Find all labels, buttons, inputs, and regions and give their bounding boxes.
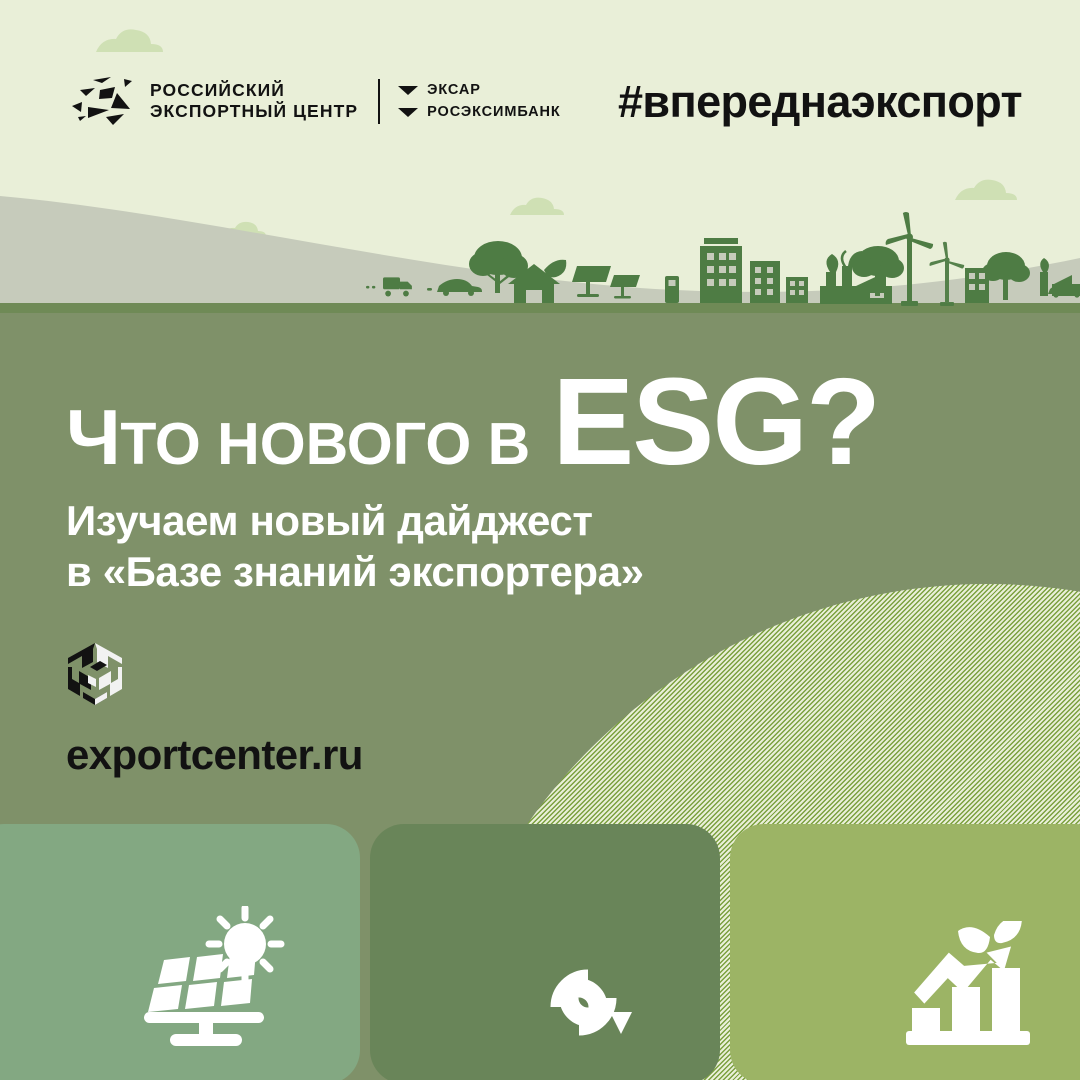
subsidiary-exiar[interactable]: ЭКСАР (398, 82, 560, 98)
page-subtitle: Изучаем новый дайджест в «Базе знаний эк… (66, 495, 644, 597)
page-title: Ч ТО НОВОГО В ESG? (66, 361, 879, 484)
eco-city-illustration (0, 0, 1080, 313)
rec-shards-logo (72, 76, 134, 126)
brand-name: РОССИЙСКИЙ ЭКСПОРТНЫЙ ЦЕНТР (150, 80, 358, 122)
solar-panel-sun-icon (134, 906, 286, 1046)
subsidiary-label: ЭКСАР (427, 82, 481, 98)
headline-initial: Ч (66, 398, 120, 476)
triangle-down-icon (398, 86, 418, 95)
brand-name-line-1: РОССИЙСКИЙ (150, 80, 358, 101)
brand-name-line-2: ЭКСПОРТНЫЙ ЦЕНТР (150, 101, 358, 122)
brand-logo-lockup[interactable]: РОССИЙСКИЙ ЭКСПОРТНЫЙ ЦЕНТР ЭКСАР РОСЭКС… (72, 76, 561, 126)
subsidiary-label: РОСЭКСИМБАНК (427, 104, 560, 120)
circular-economy-card[interactable] (370, 824, 720, 1080)
feature-cards-row (0, 824, 1080, 1080)
headline-esg: ESG? (552, 361, 879, 484)
solar-panel-card[interactable] (0, 824, 360, 1080)
website-url[interactable]: exportcenter.ru (66, 731, 363, 779)
subsidiary-roseximbank[interactable]: РОСЭКСИМБАНК (398, 104, 560, 120)
headline-smallcaps: ТО НОВОГО В (120, 415, 530, 474)
subtitle-line-1: Изучаем новый дайджест (66, 495, 644, 546)
green-growth-card[interactable] (730, 824, 1080, 1080)
headline-block: Ч ТО НОВОГО В ESG? (66, 361, 879, 484)
header-band: РОССИЙСКИЙ ЭКСПОРТНЫЙ ЦЕНТР ЭКСАР РОСЭКС… (0, 0, 1080, 313)
infinity-recycle-icon (516, 968, 646, 1046)
subtitle-line-2: в «Базе знаний экспортера» (66, 546, 644, 597)
promo-poster: РОССИЙСКИЙ ЭКСПОРТНЫЙ ЦЕНТР ЭКСАР РОСЭКС… (0, 0, 1080, 1080)
growth-chart-leaf-icon (906, 921, 1036, 1046)
triangle-down-icon (398, 108, 418, 117)
subsidiaries-list: ЭКСАР РОСЭКСИМБАНК (398, 82, 560, 120)
cube-knowledge-base-icon (66, 643, 124, 707)
campaign-hashtag[interactable]: #впереднаэкспорт (618, 76, 1022, 128)
logo-divider (378, 79, 380, 124)
website-cta[interactable]: exportcenter.ru (66, 643, 363, 779)
